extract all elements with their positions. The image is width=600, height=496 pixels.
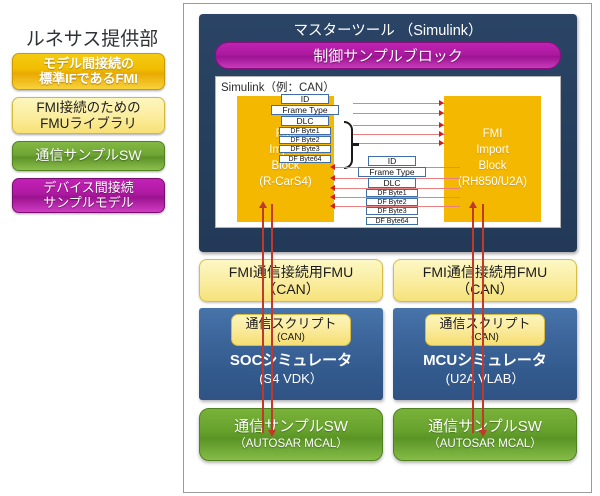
signal-chip-id: ID bbox=[281, 94, 329, 104]
simulator-subtitle: (U2A VLAB） bbox=[393, 371, 577, 387]
legend-item-device-model: デバイス間接続 サンプルモデル bbox=[12, 178, 165, 213]
comm-script-box: 通信スクリプト (CAN) bbox=[231, 314, 351, 346]
fmi-block-line1: FMI bbox=[483, 127, 503, 143]
simulator-name: SOCシミュレータ (S4 VDK） bbox=[199, 352, 383, 387]
simulator-name: MCUシミュレータ (U2A VLAB） bbox=[393, 352, 577, 387]
dataflow-arrow-down-right bbox=[482, 204, 484, 430]
signal-arrow-icon bbox=[439, 100, 444, 106]
legend-column: ルネサス提供部 モデル間接続の 標準IFであるFMI FMI接続のための FMU… bbox=[0, 0, 183, 496]
legend-item-line2: 標準IFであるFMI bbox=[39, 72, 138, 87]
signal-wire bbox=[353, 143, 445, 144]
control-sample-block: 制御サンプルブロック bbox=[215, 42, 561, 69]
mcu-simulator-panel: 通信スクリプト (CAN) MCUシミュレータ (U2A VLAB） bbox=[393, 308, 577, 400]
signal-wire bbox=[353, 125, 445, 126]
signal-chip-dfbyte64: DF Byte64 bbox=[279, 155, 331, 163]
comm-script-label: 通信スクリプト bbox=[245, 317, 336, 331]
legend-item-line2: FMUライブラリ bbox=[40, 116, 137, 131]
legend-item-comm-sample-sw: 通信サンプルSW bbox=[12, 141, 165, 171]
simulator-title: SOCシミュレータ bbox=[199, 352, 383, 371]
signal-arrow-icon bbox=[330, 203, 335, 209]
master-tool-title: マスターツール （Simulink） bbox=[199, 19, 577, 40]
comm-script-sublabel: (CAN) bbox=[471, 332, 499, 343]
signal-chip-dfbyte1: DF Byte1 bbox=[366, 189, 418, 197]
dataflow-arrow-up-right-tip bbox=[469, 201, 477, 208]
signal-chip-dfbyte64: DF Byte64 bbox=[366, 217, 418, 225]
signal-arrow-icon bbox=[439, 140, 444, 146]
dataflow-arrow-up-right bbox=[472, 207, 474, 433]
fmi-block-line3: Block bbox=[478, 159, 506, 175]
legend-item-fmu-library: FMI接続のための FMUライブラリ bbox=[12, 97, 165, 134]
fmu-box-left: FMI通信接続用FMU （CAN） bbox=[199, 259, 383, 302]
signal-chip-frametype: Frame Type bbox=[271, 105, 339, 115]
signal-arrow-icon bbox=[439, 110, 444, 116]
signal-arrow-icon bbox=[330, 185, 335, 191]
legend-item-line1: デバイス間接続 bbox=[43, 181, 134, 196]
comm-script-label: 通信スクリプト bbox=[439, 317, 530, 331]
fmi-import-block-rh850: FMI Import Block (RH850/U2A) bbox=[444, 96, 541, 222]
signal-chip-dlc: DLC bbox=[281, 116, 329, 126]
fmu-sublabel: （CAN） bbox=[456, 281, 514, 298]
legend-item-line2: サンプルモデル bbox=[43, 196, 134, 211]
dataflow-arrow-up-left bbox=[262, 207, 264, 433]
simulator-subtitle: (S4 VDK） bbox=[199, 371, 383, 387]
soc-simulator-panel: 通信スクリプト (CAN) SOCシミュレータ (S4 VDK） bbox=[199, 308, 383, 400]
signal-chip-dfbyte2: DF Byte2 bbox=[366, 198, 418, 206]
signal-wire bbox=[353, 134, 445, 135]
signal-arrow-icon bbox=[330, 164, 335, 170]
legend-item-fmi-standard-if: モデル間接続の 標準IFであるFMI bbox=[12, 53, 165, 90]
fmi-block-line4: (R-CarS4) bbox=[259, 175, 311, 191]
fmu-label: FMI通信接続用FMU bbox=[229, 264, 353, 281]
sample-sw-label: 通信サンプルSW bbox=[234, 418, 348, 437]
signal-arrow-icon bbox=[330, 175, 335, 181]
dataflow-arrow-up-left-tip bbox=[259, 201, 267, 208]
dataflow-arrow-down-left bbox=[271, 204, 273, 430]
signal-chip-dlc: DLC bbox=[368, 178, 416, 188]
master-tool-panel: マスターツール （Simulink） 制御サンプルブロック Simulink（例… bbox=[199, 14, 577, 252]
signal-arrow-icon bbox=[330, 194, 335, 200]
sample-sw-box-left: 通信サンプルSW （AUTOSAR MCAL） bbox=[199, 408, 383, 461]
fmu-label: FMI通信接続用FMU bbox=[423, 264, 547, 281]
legend-title: ルネサス提供部 bbox=[12, 24, 172, 51]
signal-chip-id: ID bbox=[368, 156, 416, 166]
sample-sw-sublabel: （AUTOSAR MCAL） bbox=[428, 437, 542, 451]
signal-wire bbox=[353, 113, 445, 114]
signal-chip-dfbyte3: DF Byte3 bbox=[279, 145, 331, 153]
fmi-block-line4: (RH850/U2A) bbox=[458, 175, 527, 191]
legend-item-line1: モデル間接続の bbox=[43, 57, 134, 72]
dataflow-arrow-down-left-tip bbox=[268, 430, 276, 437]
legend-item-line1: 通信サンプルSW bbox=[35, 148, 141, 164]
diagram-panel: マスターツール （Simulink） 制御サンプルブロック Simulink（例… bbox=[183, 3, 592, 493]
signal-bracket-stem-icon bbox=[352, 143, 359, 146]
dataflow-arrow-down-right-tip bbox=[479, 430, 487, 437]
signal-arrow-icon bbox=[439, 131, 444, 137]
comm-script-box: 通信スクリプト (CAN) bbox=[425, 314, 545, 346]
sample-sw-sublabel: （AUTOSAR MCAL） bbox=[234, 437, 348, 451]
signal-chip-frametype: Frame Type bbox=[358, 167, 426, 177]
simulator-title: MCUシミュレータ bbox=[393, 352, 577, 371]
signal-chip-dfbyte3: DF Byte3 bbox=[366, 207, 418, 215]
signal-wire bbox=[353, 103, 445, 104]
signal-arrow-icon bbox=[439, 122, 444, 128]
fmi-block-line2: Import bbox=[476, 143, 509, 159]
fmu-box-right: FMI通信接続用FMU （CAN） bbox=[393, 259, 577, 302]
signal-chip-dfbyte2: DF Byte2 bbox=[279, 136, 331, 144]
comm-script-sublabel: (CAN) bbox=[277, 332, 305, 343]
legend-item-line1: FMI接続のための bbox=[36, 100, 140, 115]
signal-chip-dfbyte1: DF Byte1 bbox=[279, 127, 331, 135]
simulink-label: Simulink（例：CAN） bbox=[221, 79, 335, 95]
